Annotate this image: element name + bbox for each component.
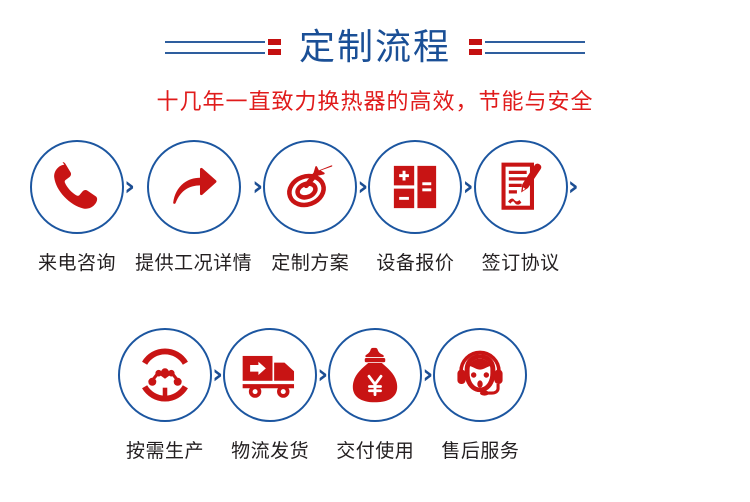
process-step-提供工况详情[interactable]: 提供工况详情: [135, 140, 252, 275]
curved-arrow-icon: [165, 158, 223, 216]
chevron-right-icon: ›: [317, 361, 328, 388]
step-label: 交付使用: [336, 436, 414, 463]
process-row-1: 来电咨询 › 提供工况详情 ›: [0, 140, 750, 275]
step-label: 签订协议: [482, 248, 560, 275]
step-label: 定制方案: [271, 248, 349, 275]
production-cycle-icon: [136, 346, 194, 404]
money-bag-yuan-icon: [350, 346, 400, 404]
step-circle: [263, 140, 357, 234]
rule-lines-left: [165, 41, 265, 54]
chevron-right-icon: ›: [124, 173, 135, 200]
step-circle: [118, 328, 212, 422]
banner-header: 定制流程 十几年一直致力换热器的高效，节能与安全: [0, 0, 750, 116]
step-label: 提供工况详情: [135, 248, 252, 275]
process-step-定制方案[interactable]: 定制方案: [263, 140, 357, 275]
step-circle: [368, 140, 462, 234]
step-circle: [328, 328, 422, 422]
step-label: 来电咨询: [38, 248, 116, 275]
title-rule-right: [469, 36, 585, 58]
step-circle: [30, 140, 124, 234]
target-dart-icon: [282, 159, 338, 215]
step-circle: [147, 140, 241, 234]
process-row-2: 按需生产 › 物流发货 ›: [0, 328, 750, 463]
phone-icon: [49, 159, 105, 215]
process-step-按需生产[interactable]: 按需生产: [118, 328, 212, 463]
chevron-right-icon: ›: [357, 173, 368, 200]
chevron-right-icon: ›: [252, 173, 263, 200]
step-circle: [433, 328, 527, 422]
rule-squares-left: [268, 39, 281, 55]
step-label: 按需生产: [126, 436, 204, 463]
process-step-交付使用[interactable]: 交付使用: [328, 328, 422, 463]
signed-document-icon: [495, 159, 547, 215]
customization-process-banner: 定制流程 十几年一直致力换热器的高效，节能与安全 来电咨询 ›: [0, 0, 750, 502]
delivery-truck-icon: [241, 349, 299, 401]
title-row: 定制流程: [0, 22, 750, 72]
step-circle: [474, 140, 568, 234]
headset-agent-icon: [451, 347, 509, 403]
rule-lines-right: [485, 41, 585, 54]
calculator-icon: [389, 161, 441, 213]
process-step-签订协议[interactable]: 签订协议: [474, 140, 568, 275]
process-step-来电咨询[interactable]: 来电咨询: [30, 140, 124, 275]
process-step-物流发货[interactable]: 物流发货: [223, 328, 317, 463]
chevron-right-icon: ›: [212, 361, 223, 388]
process-step-设备报价[interactable]: 设备报价: [368, 140, 462, 275]
page-subtitle: 十几年一直致力换热器的高效，节能与安全: [0, 84, 750, 116]
chevron-right-icon: ›: [462, 173, 473, 200]
step-label: 设备报价: [376, 248, 454, 275]
rule-squares-right: [469, 39, 482, 55]
step-circle: [223, 328, 317, 422]
process-step-售后服务[interactable]: 售后服务: [433, 328, 527, 463]
step-label: 售后服务: [441, 436, 519, 463]
title-rule-left: [165, 36, 281, 58]
page-title: 定制流程: [281, 29, 469, 65]
chevron-right-icon: ›: [422, 361, 433, 388]
step-label: 物流发货: [231, 436, 309, 463]
chevron-right-icon-trailing: ›: [568, 173, 579, 200]
